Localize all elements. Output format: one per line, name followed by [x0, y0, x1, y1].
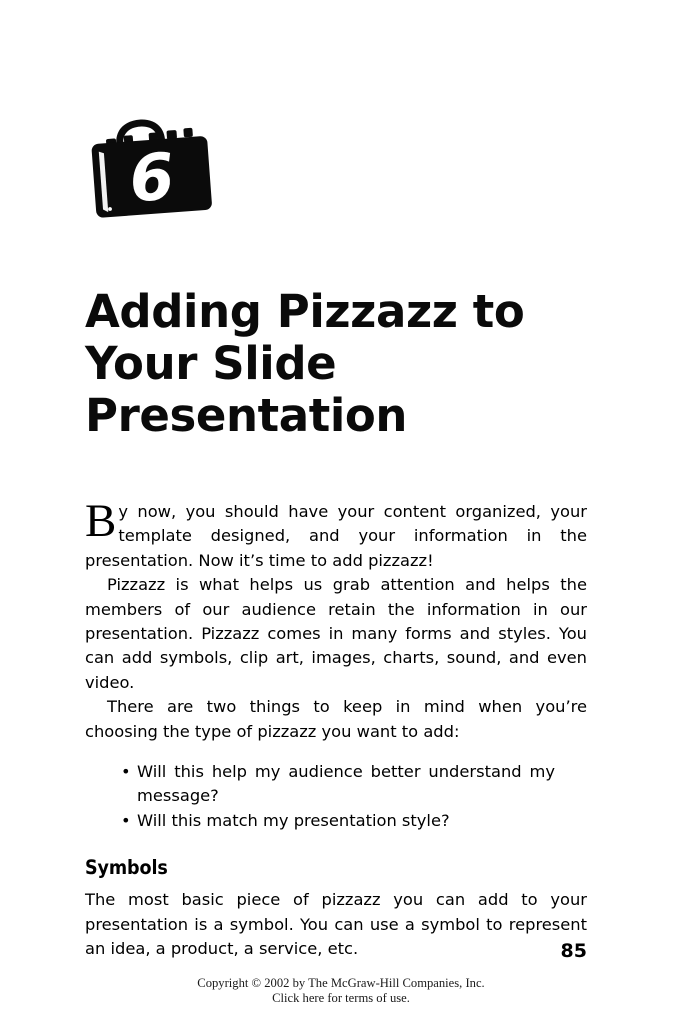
page-number: 85 — [561, 940, 587, 962]
chapter-title: Adding Pizzazz to Your Slide Presentatio… — [85, 286, 605, 442]
drop-cap: B — [85, 501, 116, 541]
body-text-column: By now, you should have your content org… — [85, 500, 587, 962]
chapter-title-line-2: Your Slide — [85, 338, 605, 390]
list-item-label: Will this match my presentation style? — [137, 811, 450, 830]
chapter-number: 6 — [127, 140, 177, 217]
paragraph-two-things: There are two things to keep in mind whe… — [85, 695, 587, 744]
paragraph-intro-text: y now, you should have your content orga… — [85, 502, 587, 570]
bullet-icon: • — [121, 760, 131, 784]
bullet-icon: • — [121, 809, 131, 833]
paragraph-symbols: The most basic piece of pizzazz you can … — [85, 888, 587, 961]
chapter-title-line-3: Presentation — [85, 390, 605, 442]
chapter-badge: 6 — [82, 114, 218, 222]
chapter-title-line-1: Adding Pizzazz to — [85, 286, 605, 338]
document-page: 6 Adding Pizzazz to Your Slide Presentat… — [0, 0, 682, 1024]
paragraph-intro: By now, you should have your content org… — [85, 500, 587, 573]
list-item: • Will this help my audience better unde… — [85, 760, 555, 809]
section-heading-symbols: Symbols — [85, 857, 587, 879]
briefcase-icon: 6 — [82, 114, 218, 222]
list-item: • Will this match my presentation style? — [85, 809, 555, 833]
paragraph-pizzazz-definition: Pizzazz is what helps us grab attention … — [85, 573, 587, 695]
terms-of-use-link[interactable]: Click here for terms of use. — [0, 991, 682, 1006]
list-item-label: Will this help my audience better unders… — [137, 762, 555, 805]
copyright-line: Copyright © 2002 by The McGraw-Hill Comp… — [0, 976, 682, 991]
copyright-footer: Copyright © 2002 by The McGraw-Hill Comp… — [0, 976, 682, 1005]
considerations-list: • Will this help my audience better unde… — [85, 760, 555, 833]
